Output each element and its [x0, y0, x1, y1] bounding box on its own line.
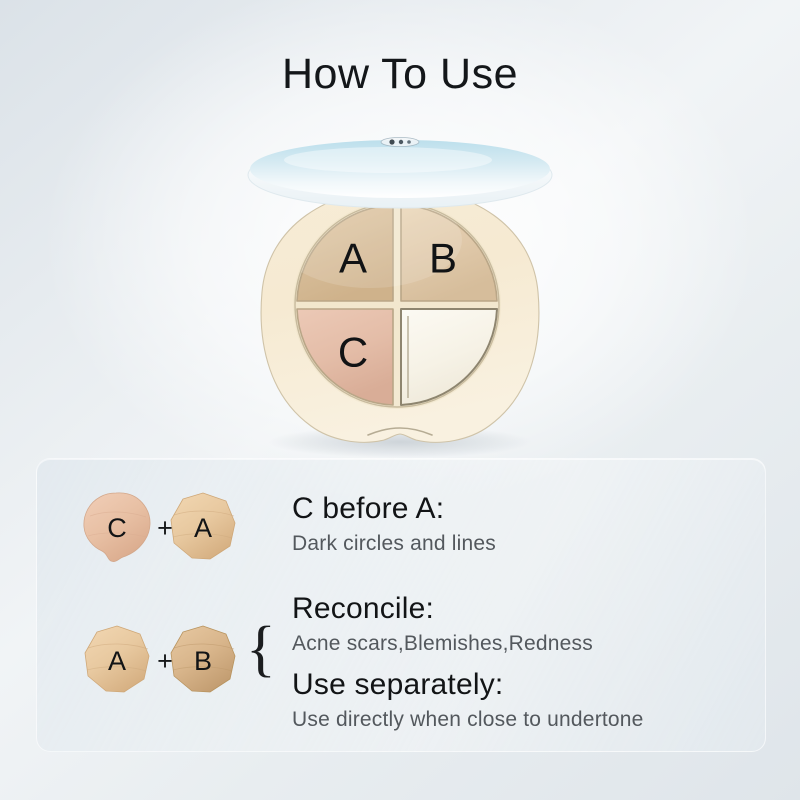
swatch-A-row1: A: [166, 490, 240, 564]
product-illustration: A B C: [240, 130, 560, 455]
swatch-label-B: B: [194, 646, 212, 676]
pan-label-C: C: [338, 329, 368, 376]
heading-reconcile: Reconcile:: [292, 592, 593, 626]
subtext-use-separately: Use directly when close to undertone: [292, 706, 644, 733]
pan-label-B: B: [429, 235, 457, 282]
swatch-label-A-row1: A: [194, 513, 212, 543]
subtext-reconcile: Acne scars,Blemishes,Redness: [292, 630, 593, 657]
heading-c-before-a: C before A:: [292, 492, 496, 526]
text-block-c-before-a: C before A: Dark circles and lines: [292, 492, 496, 557]
page-title: How To Use: [0, 52, 800, 97]
grouping-brace: {: [246, 618, 276, 680]
compact-lid: [248, 137, 552, 208]
subtext-c-before-a: Dark circles and lines: [292, 530, 496, 557]
swatch-C: C: [80, 490, 154, 564]
lid-gloss: [284, 147, 492, 173]
pan-label-A: A: [339, 235, 367, 282]
swatch-A-row2: A: [80, 623, 154, 697]
swatch-label-C: C: [107, 513, 127, 543]
text-block-reconcile: Reconcile: Acne scars,Blemishes,Redness: [292, 592, 593, 657]
swatch-label-A-row2: A: [108, 646, 126, 676]
lid-logo-mark: [381, 137, 419, 146]
text-block-use-separately: Use separately: Use directly when close …: [292, 668, 644, 733]
heading-use-separately: Use separately:: [292, 668, 644, 702]
swatch-B: B: [166, 623, 240, 697]
